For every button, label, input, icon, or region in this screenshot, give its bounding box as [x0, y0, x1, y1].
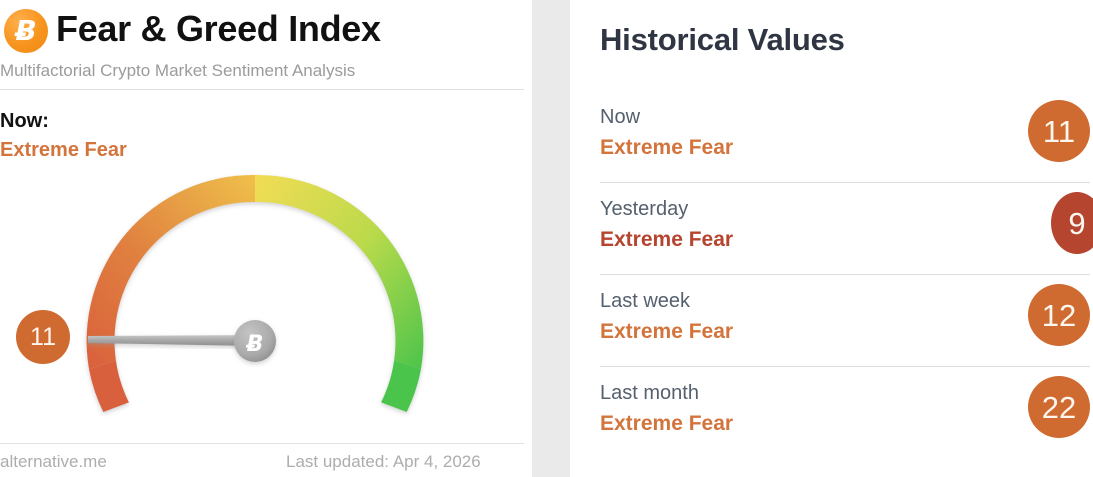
page-subtitle: Multifactorial Crypto Market Sentiment A… — [0, 61, 355, 81]
history-sentiment: Extreme Fear — [600, 228, 733, 252]
row-divider — [600, 274, 1090, 275]
history-period: Now — [600, 106, 640, 129]
history-score-value: 12 — [1042, 300, 1076, 331]
source-label[interactable]: alternative.me — [0, 452, 107, 472]
history-panel: Historical Values Now Extreme Fear 11 Ye… — [570, 0, 1093, 477]
header-divider — [0, 89, 524, 90]
gauge-panel: Ƀ Fear & Greed Index Multifactorial Cryp… — [0, 0, 532, 477]
row-divider — [600, 366, 1090, 367]
history-sentiment: Extreme Fear — [600, 136, 733, 160]
list-item[interactable]: Yesterday Extreme Fear 9 — [570, 188, 1093, 280]
history-score-value: 22 — [1042, 392, 1076, 423]
gauge-score-value: 11 — [30, 325, 56, 350]
history-period: Last month — [600, 382, 699, 405]
history-score-badge: 9 — [1051, 192, 1093, 254]
gauge-needle-hub-icon: Ƀ — [234, 320, 276, 362]
bitcoin-icon: Ƀ — [4, 9, 48, 53]
history-period: Last week — [600, 290, 690, 313]
fear-greed-widget: Ƀ Fear & Greed Index Multifactorial Cryp… — [0, 0, 1093, 477]
gauge-score-badge: 11 — [16, 310, 70, 364]
history-score-value: 11 — [1043, 116, 1075, 147]
footer-divider — [0, 443, 524, 444]
row-divider — [600, 182, 1090, 183]
history-sentiment: Extreme Fear — [600, 412, 733, 436]
list-item[interactable]: Last week Extreme Fear 12 — [570, 280, 1093, 372]
gauge-chart: Ƀ — [0, 150, 532, 435]
bitcoin-glyph: Ƀ — [15, 17, 36, 45]
last-updated-label: Last updated: Apr 4, 2026 — [286, 452, 481, 472]
list-item[interactable]: Last month Extreme Fear 22 — [570, 372, 1093, 464]
current-label: Now: — [0, 110, 49, 133]
history-score-badge: 12 — [1028, 284, 1090, 346]
gauge-arc — [87, 175, 424, 412]
list-item[interactable]: Now Extreme Fear 11 — [570, 96, 1093, 188]
history-title: Historical Values — [600, 22, 845, 58]
history-score-badge: 22 — [1028, 376, 1090, 438]
history-list: Now Extreme Fear 11 Yesterday Extreme Fe… — [570, 96, 1093, 464]
history-score-badge: 11 — [1028, 100, 1090, 162]
history-score-value: 9 — [1068, 208, 1085, 239]
page-title: Fear & Greed Index — [56, 8, 381, 50]
gauge-svg: Ƀ — [0, 150, 532, 435]
svg-text:Ƀ: Ƀ — [246, 332, 264, 357]
history-period: Yesterday — [600, 198, 688, 221]
history-sentiment: Extreme Fear — [600, 320, 733, 344]
